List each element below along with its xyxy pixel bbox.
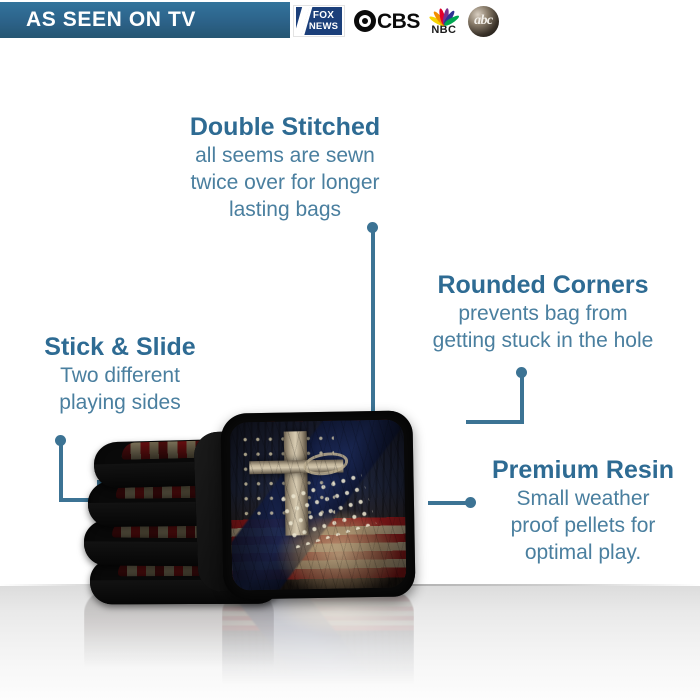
callout-line-1: Small weather <box>468 485 698 512</box>
callout-heading: Premium Resin <box>468 455 698 485</box>
callout-line-3: optimal play. <box>468 539 698 566</box>
infographic-canvas: AS SEEN ON TV FOX NEWS CBS <box>0 0 700 700</box>
as-seen-on-tv-banner: AS SEEN ON TV <box>0 2 290 38</box>
callout-line-2: twice over for longer <box>150 169 420 196</box>
fox-news-line1: FOX <box>313 10 334 21</box>
callout-heading: Stick & Slide <box>10 332 230 362</box>
cbs-icon: CBS <box>354 10 420 32</box>
double-stitched-pointer-line <box>371 227 375 417</box>
front-bag-reflection <box>222 590 414 686</box>
stick-slide-pointer-vline <box>59 440 63 502</box>
callout-rounded-corners: Rounded Corners prevents bag from gettin… <box>393 270 693 354</box>
premium-resin-pointer-line <box>428 501 468 505</box>
network-logo-row: FOX NEWS CBS NBC abc <box>293 2 499 40</box>
callout-line-1: all seems are sewn <box>150 142 420 169</box>
rounded-corners-pointer-hline <box>466 420 524 424</box>
nbc-icon: NBC <box>429 6 459 36</box>
product-bag-front <box>220 410 415 599</box>
callout-line-2: proof pellets for <box>468 512 698 539</box>
abc-wordmark: abc <box>474 13 492 29</box>
as-seen-on-tv-label: AS SEEN ON TV <box>0 8 196 32</box>
callout-heading: Rounded Corners <box>393 270 693 300</box>
callout-double-stitched: Double Stitched all seems are sewn twice… <box>150 112 420 223</box>
callout-premium-resin: Premium Resin Small weather proof pellet… <box>468 455 698 566</box>
bag-artwork <box>230 419 407 590</box>
nbc-peacock-icon <box>429 6 459 25</box>
fox-news-line2: NEWS <box>309 21 338 32</box>
callout-line-1: Two different <box>10 362 230 389</box>
fox-news-icon: FOX NEWS <box>293 5 345 37</box>
cbs-eye-icon <box>354 10 376 32</box>
callout-stick-and-slide: Stick & Slide Two different playing side… <box>10 332 230 416</box>
callout-line-3: lasting bags <box>150 196 420 223</box>
callout-line-1: prevents bag from <box>393 300 693 327</box>
rounded-corners-pointer-vline <box>520 372 524 424</box>
distressed-texture-overlay <box>230 419 407 590</box>
callout-line-2: playing sides <box>10 389 230 416</box>
abc-icon: abc <box>468 6 499 37</box>
callout-heading: Double Stitched <box>150 112 420 142</box>
callout-line-2: getting stuck in the hole <box>393 327 693 354</box>
cbs-wordmark: CBS <box>377 11 420 32</box>
